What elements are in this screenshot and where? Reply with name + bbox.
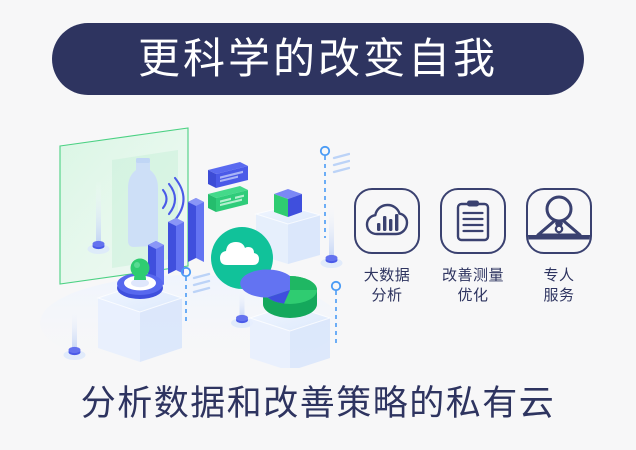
hero-illustration xyxy=(40,118,350,368)
title-banner: 更科学的改变自我 xyxy=(52,23,584,95)
feature-label-big-data-analysis: 大数据 分析 xyxy=(364,266,411,306)
page-title: 更科学的改变自我 xyxy=(138,38,498,80)
feature-measurement-optimization[interactable]: 改善测量 优化 xyxy=(438,188,508,306)
agent-person-icon xyxy=(526,188,592,254)
feature-label-dedicated-service: 专人 服务 xyxy=(543,266,574,306)
clipboard-icon xyxy=(440,188,506,254)
caption-text: 分析数据和改善策略的私有云 xyxy=(0,383,636,425)
label-badge-blue xyxy=(208,162,248,188)
feature-label-measurement-optimization: 改善测量 优化 xyxy=(442,266,504,306)
poster-canvas: 更科学的改变自我 xyxy=(0,0,636,450)
cloud-chart-icon xyxy=(354,188,420,254)
dashed-marker-upper-right xyxy=(321,147,349,238)
label-badge-green xyxy=(208,186,248,212)
marker-rod-right xyxy=(321,198,343,268)
feature-list: 大数据 分析 改善测量 优化 xyxy=(352,188,594,306)
isometric-cube xyxy=(274,189,302,217)
feature-dedicated-service[interactable]: 专人 服务 xyxy=(524,188,594,306)
feature-big-data-analysis[interactable]: 大数据 分析 xyxy=(352,188,422,306)
caption-block: 分析数据和改善策略的私有云 xyxy=(0,383,636,425)
